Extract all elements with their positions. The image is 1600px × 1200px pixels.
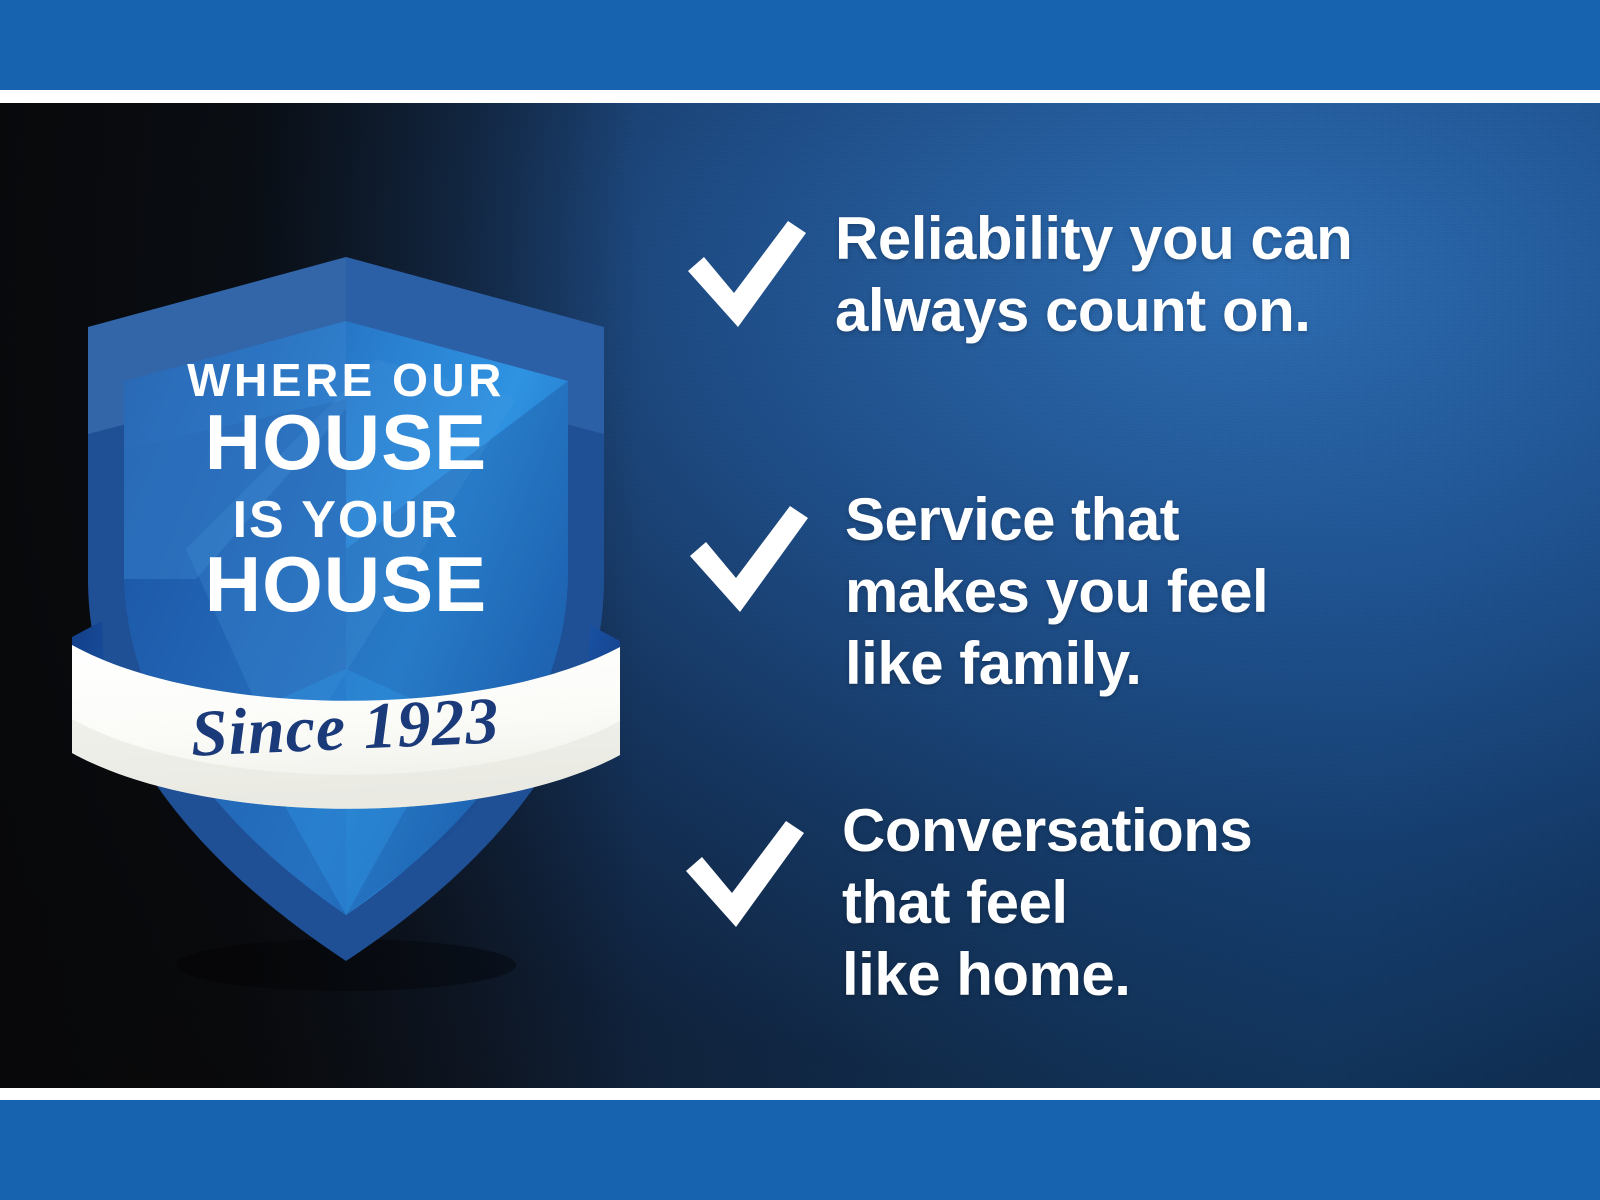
- list-item-label: Service that makes you feel like family.: [845, 484, 1545, 700]
- logo-line-4: HOUSE: [205, 540, 487, 628]
- list-item-label: Reliability you can always count on.: [835, 203, 1535, 347]
- ribbon-text: Since 1923: [189, 684, 501, 770]
- bottom-divider: [0, 1088, 1600, 1100]
- shield-logo: WHERE OUR HOUSE IS YOUR HOUSE Since 1923: [46, 249, 646, 1069]
- list-item-label: Conversations that feel like home.: [842, 795, 1542, 1011]
- main-stage: WHERE OUR HOUSE IS YOUR HOUSE Since 1923: [0, 103, 1600, 1088]
- checkmark-icon: [684, 502, 812, 620]
- checkmark-icon: [680, 817, 808, 935]
- top-divider: [0, 90, 1600, 103]
- bottom-accent-bar: [0, 1100, 1600, 1200]
- checkmark-icon: [682, 217, 810, 335]
- logo-line-2: HOUSE: [205, 398, 487, 486]
- top-accent-bar: [0, 0, 1600, 90]
- promo-graphic: WHERE OUR HOUSE IS YOUR HOUSE Since 1923: [0, 0, 1600, 1200]
- shield-text-group: WHERE OUR HOUSE IS YOUR HOUSE: [187, 354, 505, 628]
